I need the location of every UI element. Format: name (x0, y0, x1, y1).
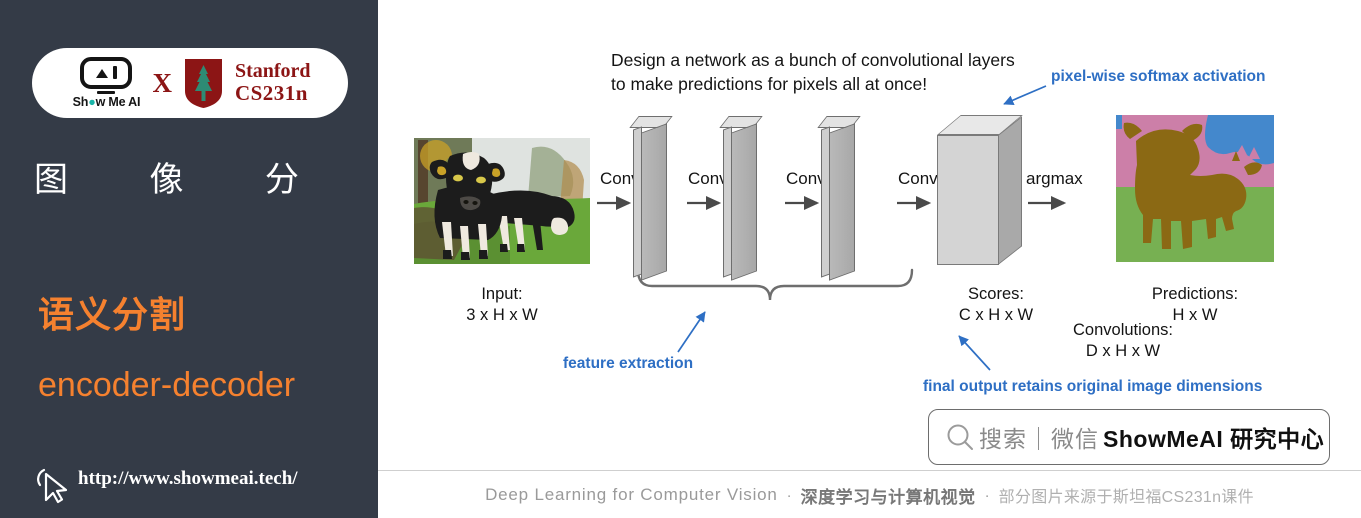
ai-mark-icon (80, 57, 132, 89)
search-brand: ShowMeAI 研究中心 (1103, 420, 1324, 454)
footer-chinese-light: 部分图片来源于斯坦福CS231n课件 (999, 483, 1254, 507)
op-label-argmax: argmax (1026, 169, 1083, 189)
label-scores: Scores: C x H x W (918, 284, 1074, 327)
headline-line-1: Design a network as a bunch of convoluti… (611, 48, 1051, 72)
label-scores-line2: C x H x W (918, 305, 1074, 326)
footer-english: Deep Learning for Computer Vision (485, 485, 778, 505)
label-predictions: Predictions: H x W (1116, 284, 1274, 327)
headline: Design a network as a bunch of convoluti… (611, 48, 1051, 96)
label-pred-line2: H x W (1116, 305, 1274, 326)
op-label-conv-2: Conv (688, 169, 728, 189)
label-input: Input: 3 x H x W (414, 284, 590, 327)
annotation-softmax: pixel-wise softmax activation (1051, 68, 1266, 86)
annotation-feature-extraction: feature extraction (563, 355, 693, 373)
prediction-image (1116, 115, 1274, 262)
cursor-pointer-icon (36, 466, 74, 506)
footer-bar: Deep Learning for Computer Vision · 深度学习… (378, 470, 1361, 518)
input-image (414, 138, 590, 264)
stanford-shield-icon (181, 57, 226, 109)
label-input-line2: 3 x H x W (414, 305, 590, 326)
search-icon (945, 422, 975, 452)
badge-separator: X (152, 68, 172, 99)
sidebar-keyword-secondary: encoder-decoder (38, 366, 295, 405)
show-me-ai-wordmark: Sh●w Me AI (73, 95, 141, 109)
slide-canvas: Design a network as a bunch of convoluti… (378, 0, 1361, 518)
course-badge: Sh●w Me AI X Stanford CS231n (32, 48, 348, 118)
op-label-conv-4: Conv (898, 169, 938, 189)
partner-line-2: CS231n (235, 82, 311, 106)
label-input-line1: Input: (414, 284, 590, 305)
partner-name: Stanford CS231n (235, 60, 311, 106)
footer-separator-2: · (985, 487, 990, 504)
footer-chinese-bold: 深度学习与计算机视觉 (801, 483, 976, 508)
sidebar-keyword-primary: 语义分割 (38, 286, 186, 338)
search-prefix: 搜索｜微信 (979, 420, 1099, 454)
sidebar-url[interactable]: http://www.showmeai.tech/ (78, 468, 298, 490)
label-pred-line1: Predictions: (1116, 284, 1274, 305)
label-scores-line1: Scores: (918, 284, 1074, 305)
footer-separator-1: · (787, 487, 792, 504)
annotation-final-output: final output retains original image dime… (923, 378, 1262, 396)
op-label-conv-3: Conv (786, 169, 826, 189)
headline-line-2: to make predictions for pixels all at on… (611, 72, 1051, 96)
slide-page: Sh●w Me AI X Stanford CS231n 图 像 分 割 语义分… (0, 0, 1361, 518)
sidebar: Sh●w Me AI X Stanford CS231n 图 像 分 割 语义分… (0, 0, 378, 518)
partner-line-1: Stanford (235, 60, 311, 82)
wechat-search-box[interactable]: 搜索｜微信 ShowMeAI 研究中心 (928, 409, 1330, 465)
sidebar-title: 图 像 分 割 (34, 152, 354, 201)
show-me-ai-logo: Sh●w Me AI (69, 57, 143, 110)
label-conv-line2: D x H x W (1033, 341, 1213, 362)
